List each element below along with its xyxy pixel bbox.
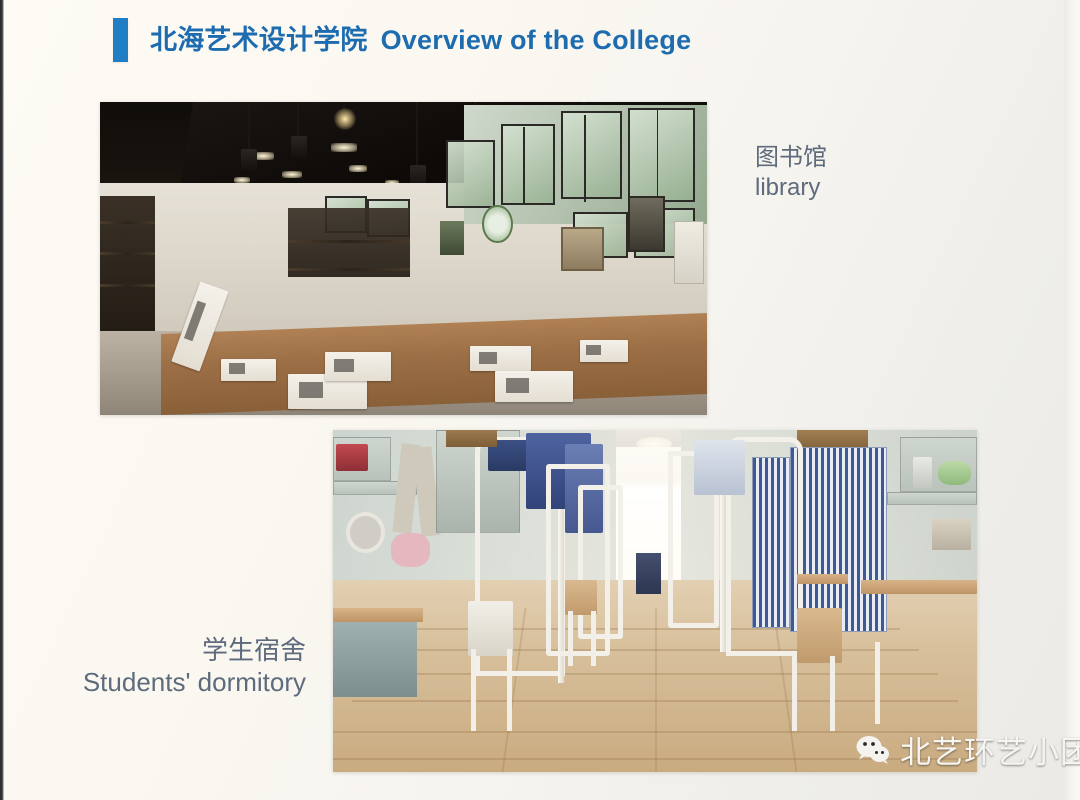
chair-back: [797, 608, 842, 663]
right-desk: [797, 574, 849, 584]
left-desk-body: [333, 622, 417, 697]
pink-hat: [391, 533, 430, 567]
caption-dormitory-en: Students' dormitory: [60, 666, 306, 698]
title-accent-bar: [113, 18, 128, 62]
bunk-top-board: [446, 430, 498, 447]
open-magazine: [495, 371, 574, 402]
wechat-icon: [855, 732, 891, 768]
pendant-lamp: [291, 136, 307, 158]
page-title-cn: 北海艺术设计学院: [150, 25, 368, 55]
red-bag: [336, 444, 368, 471]
window-mullion: [657, 108, 659, 202]
shelf-board: [100, 221, 155, 224]
notice-board: [561, 227, 603, 271]
right-edge-band: [1064, 0, 1080, 800]
dormitory-photo: [333, 430, 977, 772]
framed-picture: [628, 196, 664, 252]
caption-library-cn: 图书馆: [755, 143, 827, 173]
floor-plank-seam: [655, 608, 657, 772]
chair-leg: [591, 611, 596, 666]
chair-leg: [471, 649, 476, 731]
wall-poster: [440, 221, 464, 255]
ceiling-light: [234, 177, 250, 183]
bunk-bed-frame: [578, 485, 623, 639]
window-mullion: [523, 127, 525, 205]
caption-dormitory: 学生宿舍 Students' dormitory: [60, 634, 306, 698]
lamp-cord: [416, 102, 418, 168]
library-scene: [100, 102, 707, 415]
chair-leg: [792, 656, 797, 731]
slide-title-row: 北海艺术设计学院Overview of the College: [113, 18, 691, 62]
corridor-locker: [636, 553, 662, 594]
dormitory-scene: [333, 430, 977, 772]
green-basin: [938, 461, 970, 485]
watermark-text: 北艺环艺小团: [900, 727, 1080, 772]
shelf-board: [288, 240, 409, 243]
open-magazine: [580, 340, 629, 362]
open-magazine: [325, 352, 392, 380]
ceiling-light: [282, 171, 302, 178]
window-pane: [446, 140, 495, 209]
window-mullion: [693, 108, 695, 202]
pendant-lamp: [241, 149, 257, 171]
window-pane: [628, 108, 695, 202]
chair-back: [565, 580, 597, 614]
stacked-books: [932, 519, 971, 550]
ceiling-light: [349, 165, 367, 172]
framed-picture: [674, 221, 704, 284]
shelf-board: [100, 284, 155, 287]
headphones: [346, 512, 385, 553]
chair-leg: [507, 649, 512, 731]
slide-canvas: 北海艺术设计学院Overview of the College: [0, 0, 1080, 800]
right-shelf: [887, 492, 977, 506]
bookshelf: [100, 196, 155, 337]
bed-curtain: [790, 447, 887, 632]
caption-library-en: library: [755, 173, 827, 203]
lamp-cord: [297, 102, 299, 140]
left-edge-band: [0, 0, 4, 800]
chair-leg: [875, 642, 880, 724]
shelf-board: [288, 268, 409, 271]
page-title-en: Overview of the College: [381, 25, 692, 55]
lamp-glow: [334, 108, 356, 130]
caption-dormitory-cn: 学生宿舍: [60, 634, 306, 666]
shelf-board: [100, 252, 155, 255]
open-magazine: [221, 359, 276, 381]
left-desk: [333, 608, 423, 622]
window-pane: [501, 124, 556, 205]
lamp-cord: [248, 102, 250, 152]
caption-library: 图书馆 library: [755, 143, 827, 203]
chair-leg: [830, 656, 835, 731]
page-title: 北海艺术设计学院Overview of the College: [150, 18, 691, 62]
bottle: [913, 457, 932, 488]
library-photo: [100, 102, 707, 415]
open-magazine: [470, 346, 531, 371]
window-mullion: [584, 115, 586, 203]
chair-back: [468, 601, 513, 656]
round-wall-emblem: [482, 205, 512, 243]
ceiling-light: [331, 143, 357, 152]
chair-leg: [568, 611, 573, 666]
wechat-watermark: 北艺环艺小团: [855, 727, 1080, 772]
mosquito-net: [694, 440, 746, 495]
right-desk: [861, 580, 977, 594]
window-pane: [561, 111, 622, 199]
